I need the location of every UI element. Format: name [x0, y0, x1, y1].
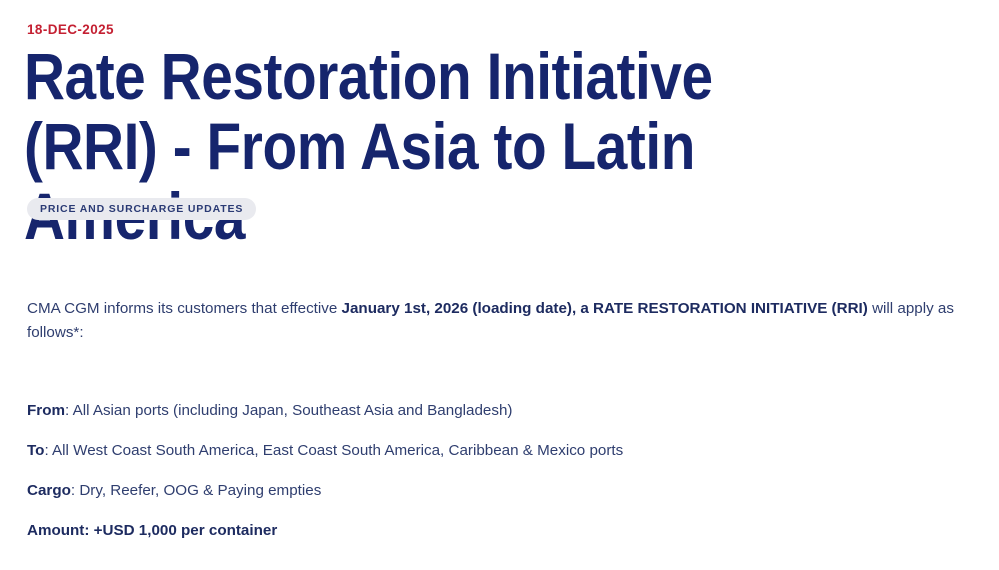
publication-date: 18-DEC-2025 [27, 23, 114, 37]
detail-label-from: From [27, 402, 65, 419]
category-tag-price-and-surcharge-updates[interactable]: PRICE AND SURCHARGE UPDATES [27, 198, 256, 220]
article-page: 18-DEC-2025 Rate Restoration Initiative … [0, 0, 999, 570]
details-list: From: All Asian ports (including Japan, … [27, 401, 962, 541]
tag-row: PRICE AND SURCHARGE UPDATES [27, 198, 256, 220]
detail-value-cargo: : Dry, Reefer, OOG & Paying empties [71, 482, 321, 499]
detail-row-to: To: All West Coast South America, East C… [27, 441, 962, 461]
detail-row-from: From: All Asian ports (including Japan, … [27, 401, 962, 421]
detail-label-cargo: Cargo [27, 482, 71, 499]
detail-label-to: To [27, 442, 44, 459]
intro-lead-text: CMA CGM informs its customers that effec… [27, 300, 342, 317]
detail-row-amount: Amount: +USD 1,000 per container [27, 521, 962, 541]
detail-row-cargo: Cargo: Dry, Reefer, OOG & Paying empties [27, 481, 962, 501]
detail-value-from: : All Asian ports (including Japan, Sout… [65, 402, 512, 419]
intro-emphasis-text: January 1st, 2026 (loading date), a RATE… [342, 300, 868, 317]
intro-paragraph: CMA CGM informs its customers that effec… [27, 297, 962, 345]
detail-value-to: : All West Coast South America, East Coa… [44, 442, 623, 459]
